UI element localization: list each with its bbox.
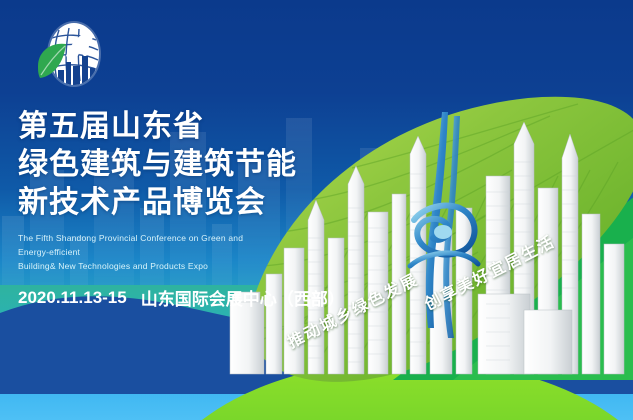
title-line-2: 绿色建筑与建筑节能 — [18, 146, 318, 184]
title-line-3: 新技术产品博览会 — [18, 184, 318, 222]
event-date-venue: 2020.11.13-15 山东国际会展中心（西部） — [18, 285, 318, 310]
expo-globe-leaf-logo — [28, 18, 112, 98]
subtitle-line-2: Building& New Technologies and Products … — [18, 259, 270, 273]
expo-poster: 推动城乡绿色发展 创享美好宜居生活 — [0, 0, 633, 420]
title-line-1: 第五届山东省 — [18, 108, 318, 146]
subtitle-line-1: The Fifth Shandong Provincial Conference… — [18, 231, 270, 259]
event-venue: 山东国际会展中心（西部） — [141, 285, 345, 310]
event-date: 2020.11.13-15 — [18, 288, 127, 308]
subtitle-english: The Fifth Shandong Provincial Conference… — [18, 231, 270, 273]
poster-text-block: 第五届山东省 绿色建筑与建筑节能 新技术产品博览会 The Fifth Shan… — [18, 108, 318, 310]
